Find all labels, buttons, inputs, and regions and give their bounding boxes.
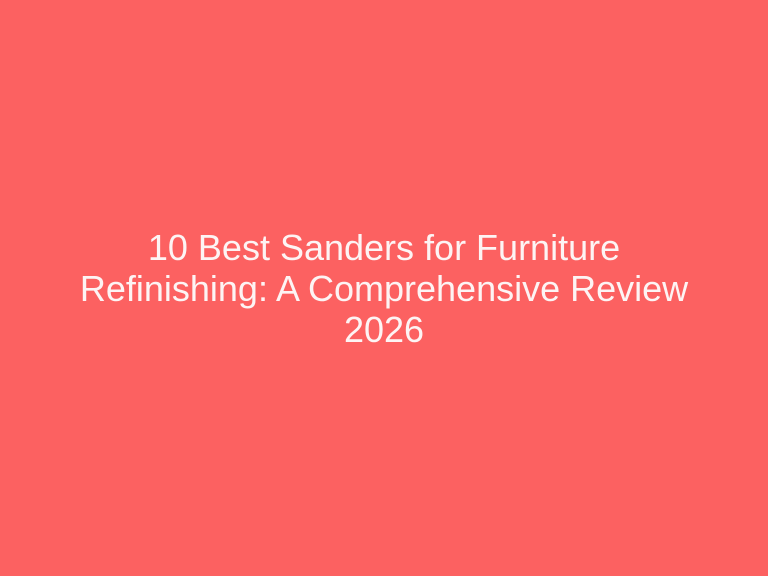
page-title: 10 Best Sanders for Furniture Refinishin… [72,227,696,350]
title-card: 10 Best Sanders for Furniture Refinishin… [0,0,768,576]
title-block: 10 Best Sanders for Furniture Refinishin… [64,227,704,350]
